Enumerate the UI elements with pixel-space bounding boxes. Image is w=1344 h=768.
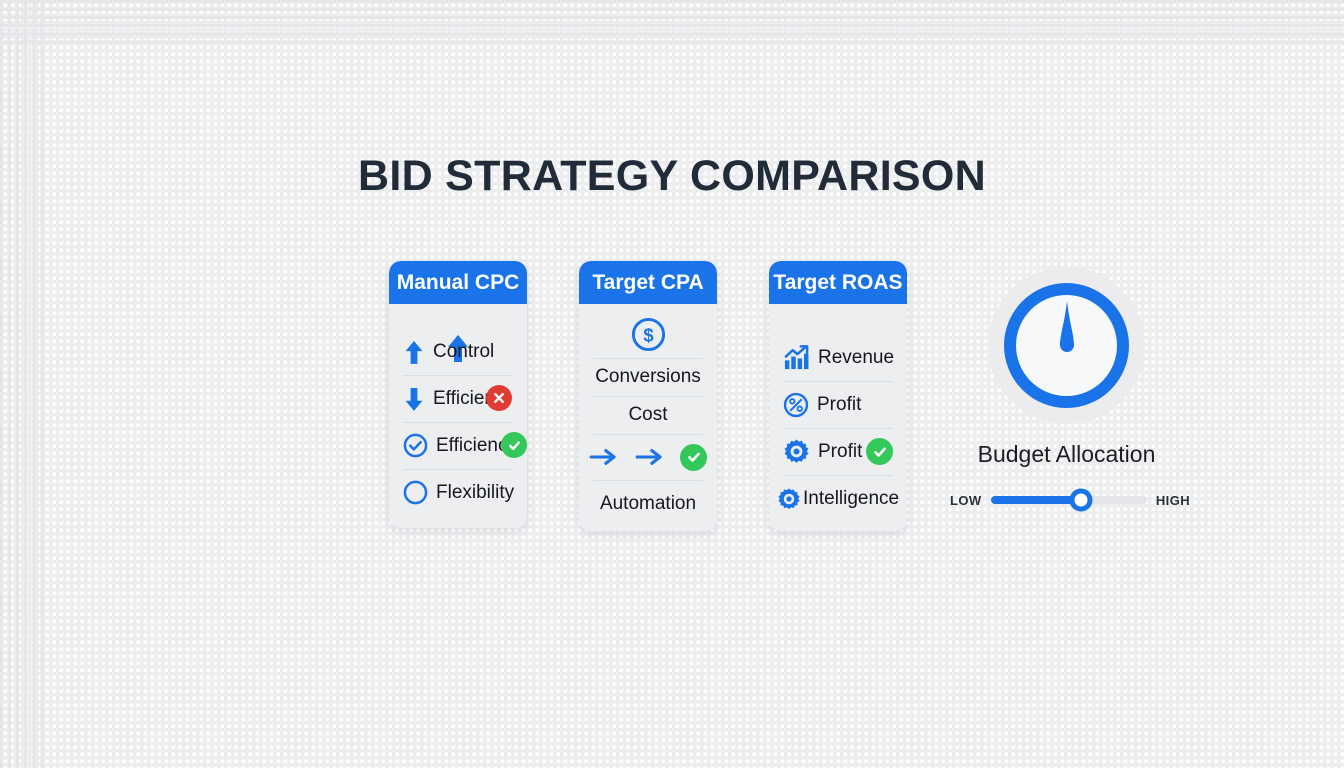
card-target-cpa[interactable]: Target CPA $ Conversions Cost bbox=[579, 261, 717, 531]
slider-fill bbox=[991, 496, 1082, 504]
card-header-manual-cpc: Manual CPC bbox=[389, 261, 527, 304]
slider-thumb[interactable] bbox=[1070, 489, 1093, 512]
list-item-label: Control bbox=[433, 341, 494, 363]
list-item[interactable]: Flexibility bbox=[389, 469, 527, 516]
list-item[interactable]: Control bbox=[389, 328, 527, 375]
list-item-label: Flexibility bbox=[436, 482, 514, 504]
arrow-down-icon bbox=[403, 385, 425, 413]
check-circle-icon bbox=[403, 433, 428, 458]
budget-slider[interactable]: LOW HIGH bbox=[950, 487, 1190, 513]
card-body-target-cpa: $ Conversions Cost bbox=[579, 310, 717, 528]
card-body-target-roas: Revenue Profit Profit bbox=[769, 334, 907, 522]
check-badge bbox=[680, 444, 707, 471]
card-manual-cpc[interactable]: Manual CPC Control Efficien bbox=[389, 261, 527, 528]
list-item[interactable]: Cost bbox=[579, 396, 717, 434]
card-target-roas[interactable]: Target ROAS Revenue bbox=[769, 261, 907, 531]
list-item-label: Cost bbox=[628, 404, 667, 426]
list-item-label: Profit bbox=[818, 441, 862, 463]
list-item[interactable]: Intelligence bbox=[769, 475, 907, 522]
list-item[interactable]: $ bbox=[579, 310, 717, 358]
dollar-circle-icon: $ bbox=[630, 316, 667, 353]
list-item-label: Automation bbox=[600, 493, 696, 515]
slider-low-label: LOW bbox=[950, 493, 982, 508]
gear-icon bbox=[777, 487, 801, 511]
gauge-needle-icon bbox=[1054, 301, 1080, 372]
page-title: BID STRATEGY COMPARISON bbox=[0, 152, 1344, 201]
x-badge bbox=[486, 385, 512, 411]
slider-high-label: HIGH bbox=[1156, 493, 1190, 508]
card-header-target-cpa: Target CPA bbox=[579, 261, 717, 304]
bar-chart-up-icon bbox=[783, 344, 810, 371]
gauge-caption: Budget Allocation bbox=[940, 441, 1193, 468]
gear-icon bbox=[783, 438, 810, 465]
arrow-up-icon bbox=[403, 338, 425, 366]
list-item-label: Profit bbox=[817, 394, 861, 416]
list-item[interactable]: Profit bbox=[769, 428, 907, 475]
budget-gauge[interactable] bbox=[988, 267, 1145, 424]
card-body-manual-cpc: Control Efficien Efficienc bbox=[389, 328, 527, 516]
svg-text:$: $ bbox=[643, 324, 654, 345]
card-header-target-roas: Target ROAS bbox=[769, 261, 907, 304]
list-item-label: Conversions bbox=[595, 366, 701, 388]
list-item[interactable]: Profit bbox=[769, 381, 907, 428]
list-item-label: Revenue bbox=[818, 347, 894, 369]
list-item[interactable]: Efficien bbox=[389, 375, 527, 422]
list-item[interactable]: Efficiency bbox=[389, 422, 527, 469]
list-item[interactable]: Revenue bbox=[769, 334, 907, 381]
arrow-flow-row[interactable] bbox=[579, 434, 717, 480]
arrow-right-icon bbox=[635, 446, 665, 468]
list-item[interactable]: Conversions bbox=[579, 358, 717, 396]
percent-circle-icon bbox=[783, 392, 809, 418]
slider-track[interactable] bbox=[991, 496, 1147, 504]
check-badge bbox=[501, 432, 527, 458]
arrow-right-icon bbox=[589, 446, 619, 468]
check-badge bbox=[866, 438, 893, 465]
list-item[interactable]: Automation bbox=[579, 480, 717, 528]
list-item-label: Intelligence bbox=[803, 488, 899, 510]
circle-icon bbox=[403, 480, 428, 505]
